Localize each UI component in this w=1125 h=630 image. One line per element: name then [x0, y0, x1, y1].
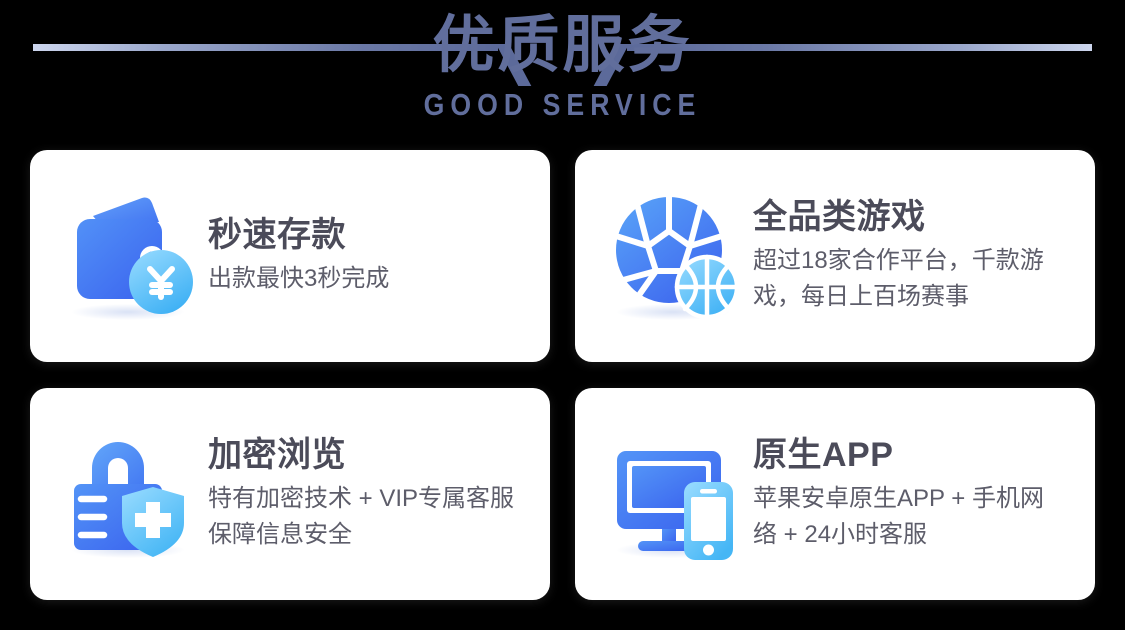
header-text-block: 优质服务 GOOD SERVICE: [0, 0, 1125, 122]
feature-card-native-app[interactable]: 原生APP 苹果安卓原生APP + 手机网络 + 24小时客服: [575, 388, 1095, 600]
card-text-block: 全品类游戏 超过18家合作平台，千款游戏，每日上百场赛事: [745, 197, 1095, 315]
card-description: 苹果安卓原生APP + 手机网络 + 24小时客服: [753, 481, 1053, 553]
card-title: 加密浏览: [208, 435, 538, 475]
feature-card-grid: 秒速存款 出款最快3秒完成: [30, 150, 1095, 600]
soccer-basketball-icon: [605, 186, 745, 326]
page-subtitle: GOOD SERVICE: [79, 82, 1047, 122]
feature-card-games[interactable]: 全品类游戏 超过18家合作平台，千款游戏，每日上百场赛事: [575, 150, 1095, 362]
card-text-block: 原生APP 苹果安卓原生APP + 手机网络 + 24小时客服: [745, 435, 1065, 553]
card-text-block: 秒速存款 出款最快3秒完成: [200, 215, 401, 297]
card-description: 特有加密技术 + VIP专属客服保障信息安全: [208, 481, 538, 553]
card-title: 秒速存款: [208, 215, 389, 255]
card-description: 超过18家合作平台，千款游戏，每日上百场赛事: [753, 243, 1083, 315]
card-title: 原生APP: [753, 435, 1053, 475]
page-title: 优质服务: [0, 0, 1125, 82]
page-header: 优质服务 GOOD SERVICE: [0, 0, 1125, 150]
feature-card-encryption[interactable]: 加密浏览 特有加密技术 + VIP专属客服保障信息安全: [30, 388, 550, 600]
wallet-yen-icon: [60, 186, 200, 326]
lock-shield-icon: [60, 424, 200, 564]
monitor-phone-icon: [605, 424, 745, 564]
card-description: 出款最快3秒完成: [208, 261, 389, 297]
card-title: 全品类游戏: [753, 197, 1083, 237]
feature-card-deposit[interactable]: 秒速存款 出款最快3秒完成: [30, 150, 550, 362]
card-text-block: 加密浏览 特有加密技术 + VIP专属客服保障信息安全: [200, 435, 550, 553]
